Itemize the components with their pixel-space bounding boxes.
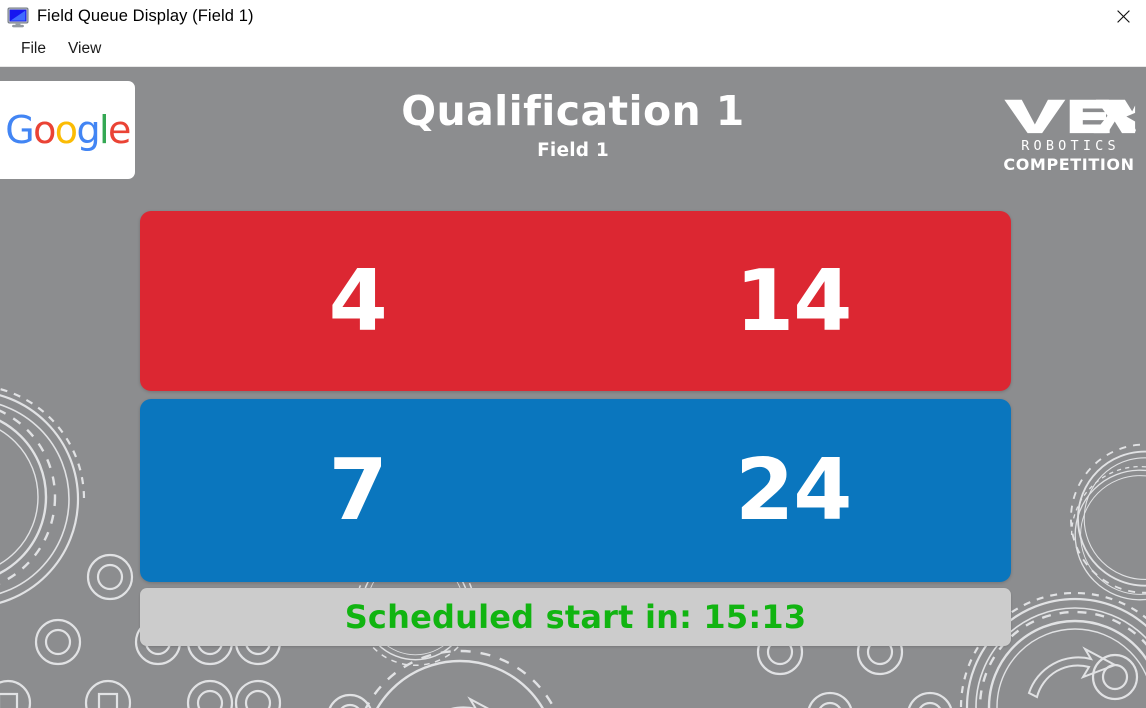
match-header: Qualification 1 Field 1 [0, 87, 1146, 161]
red-team-1: 4 [140, 259, 576, 344]
google-letter-g1: G [5, 108, 33, 152]
vex-competition-label: COMPETITION [1000, 157, 1138, 173]
blue-team-1: 7 [140, 448, 576, 533]
google-letter-l: l [99, 108, 108, 152]
field-name-label: Field 1 [0, 140, 1146, 161]
queue-display-stage: Google Qualification 1 Field 1 ROBOTICS … [0, 67, 1146, 708]
field-queue-display-window: Field Queue Display (Field 1) File View [0, 0, 1146, 708]
window-title: Field Queue Display (Field 1) [37, 7, 254, 26]
google-letter-o2: o [55, 108, 77, 152]
google-logo: Google [5, 111, 129, 149]
blue-team-2: 24 [576, 448, 1012, 533]
google-letter-g2: g [76, 108, 99, 152]
match-title: Qualification 1 [0, 87, 1146, 135]
monitor-icon [7, 6, 29, 28]
title-bar: Field Queue Display (Field 1) [0, 0, 1146, 33]
scheduled-start-countdown: Scheduled start in: 15:13 [345, 598, 807, 636]
sponsor-logo-card: Google [0, 81, 135, 179]
vex-robotics-competition-logo: ROBOTICS COMPETITION [1000, 93, 1138, 173]
red-team-2: 14 [576, 259, 1012, 344]
menu-item-view[interactable]: View [57, 36, 112, 63]
vex-robotics-label: ROBOTICS [1003, 140, 1138, 154]
google-letter-o1: o [33, 108, 55, 152]
menu-bar: File View [0, 33, 1146, 67]
menu-item-file[interactable]: File [10, 36, 57, 63]
red-alliance-panel: 4 14 [140, 211, 1011, 391]
blue-alliance-panel: 7 24 [140, 399, 1011, 582]
google-letter-e: e [108, 108, 130, 152]
close-glyph [1117, 10, 1130, 23]
vex-wordmark-icon [1000, 93, 1138, 137]
schedule-status-bar: Scheduled start in: 15:13 [140, 588, 1011, 646]
close-icon[interactable] [1100, 0, 1146, 33]
